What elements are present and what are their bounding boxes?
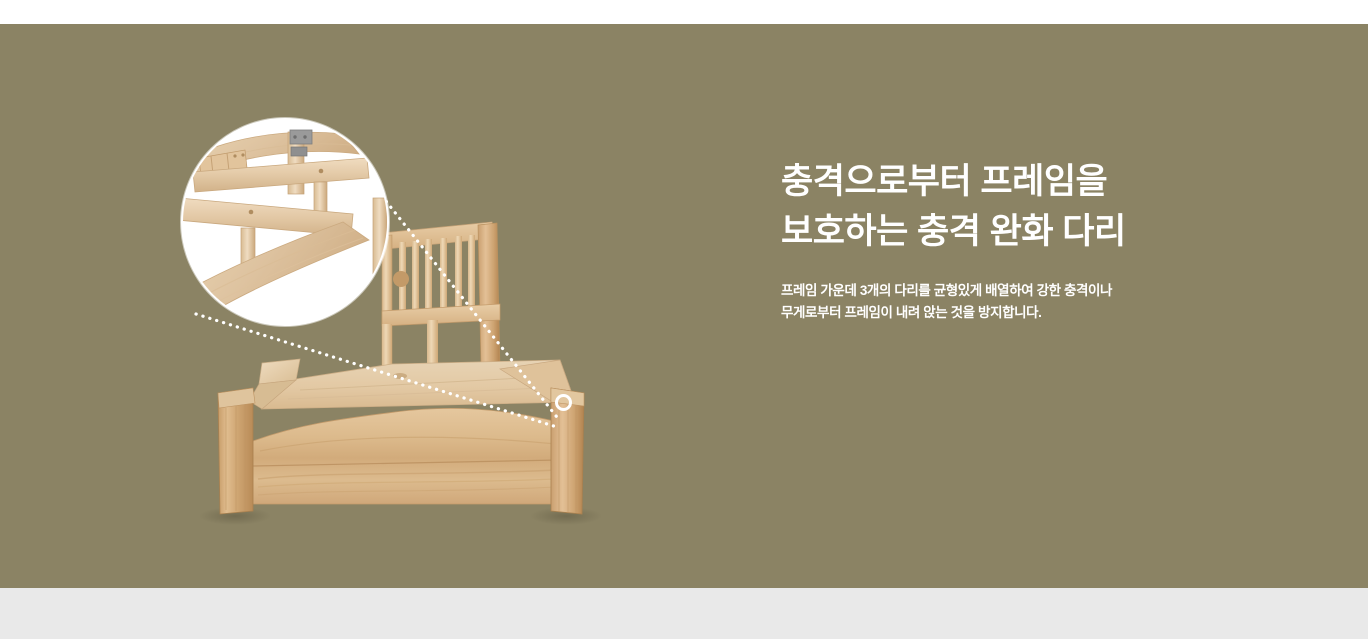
magnified-detail-inset — [181, 118, 389, 326]
product-feature-page: 충격으로부터 프레임을 보호하는 충격 완화 다리 프레임 가운데 3개의 다리… — [0, 0, 1368, 639]
headboard-slat — [455, 236, 462, 310]
headboard — [382, 222, 500, 370]
footboard-panel — [253, 408, 558, 504]
headboard-slat — [468, 235, 475, 310]
callout-ring-marker — [555, 394, 572, 411]
hero-description: 프레임 가운데 3개의 다리를 균형있게 배열하여 강한 충격이나 무게로부터 … — [781, 280, 1201, 324]
headboard-stile — [382, 324, 392, 370]
bottom-gray-band — [0, 588, 1368, 639]
metal-bracket — [290, 130, 312, 144]
bed-frame-graphic — [0, 24, 700, 588]
headboard-slat — [412, 241, 419, 310]
slat-hole — [393, 271, 409, 287]
hero-banner: 충격으로부터 프레임을 보호하는 충격 완화 다리 프레임 가운데 3개의 다리… — [0, 24, 1368, 588]
headboard-slat — [425, 239, 432, 310]
headboard-stile — [427, 320, 438, 370]
hero-text-column: 충격으로부터 프레임을 보호하는 충격 완화 다리 프레임 가운데 3개의 다리… — [781, 157, 1201, 324]
top-white-strip — [0, 0, 1368, 24]
product-illustration — [0, 24, 700, 588]
page-title: 충격으로부터 프레임을 보호하는 충격 완화 다리 — [781, 157, 1201, 257]
support-legs-detail-graphic — [183, 120, 387, 324]
